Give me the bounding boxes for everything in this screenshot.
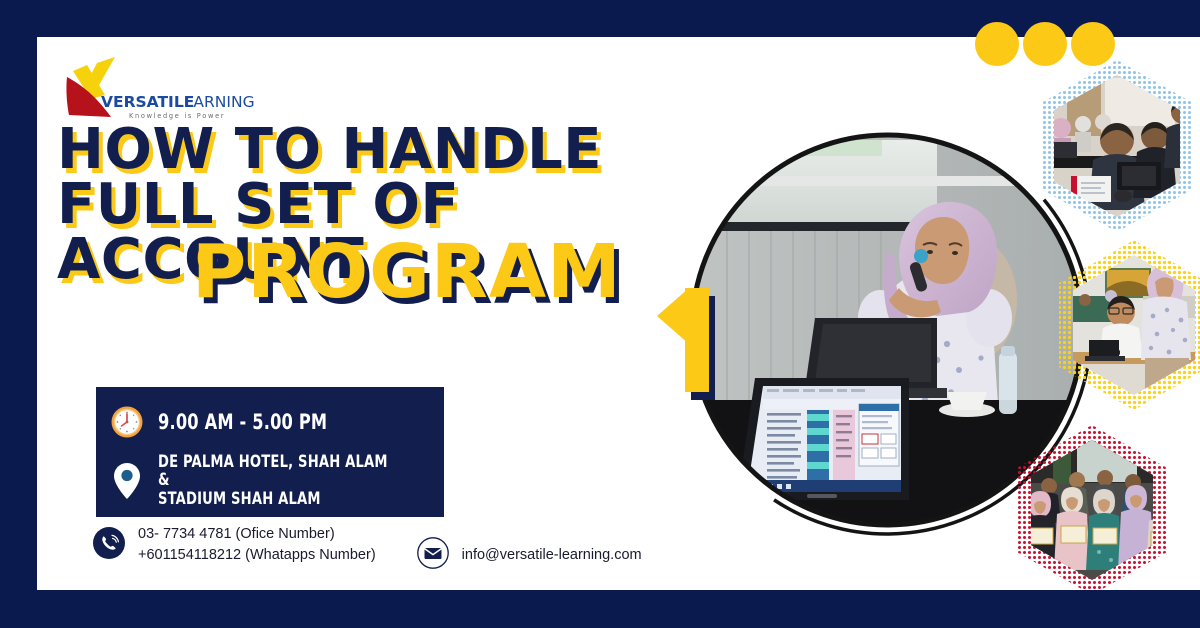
headline-line-2: FULL SET OF — [57, 178, 697, 233]
location-pin-icon — [96, 462, 158, 500]
clock-icon — [96, 405, 158, 439]
decor-dot-3 — [1071, 22, 1115, 66]
event-details-box: 9.00 AM - 5.00 PM DE PALMA HOTEL, SHAH A… — [96, 387, 444, 517]
white-content-panel: VERSATILE LEARNING Knowledge is Power HO… — [37, 37, 1200, 590]
phone-contact[interactable]: 03- 7734 4781 (Ofice Number) +6011541182… — [92, 524, 376, 566]
event-venue-row: DE PALMA HOTEL, SHAH ALAM & STADIUM SHAH… — [96, 453, 444, 508]
event-time-row: 9.00 AM - 5.00 PM — [96, 405, 444, 439]
event-venue-line-2: STADIUM SHAH ALAM — [158, 490, 404, 508]
phone-text-wrap: 03- 7734 4781 (Ofice Number) +6011541182… — [138, 524, 376, 566]
contact-bar: 03- 7734 4781 (Ofice Number) +6011541182… — [92, 524, 642, 575]
event-venue-line-1: DE PALMA HOTEL, SHAH ALAM & — [158, 453, 404, 490]
phone-icon — [92, 526, 126, 565]
phone-whatsapp-number: +601154118212 (Whatapps Number) — [138, 545, 376, 566]
email-address: info@versatile-learning.com — [462, 545, 642, 566]
headline-program-word: PROGRAM — [192, 237, 622, 307]
decor-dot-1 — [975, 22, 1019, 66]
phone-office-number: 03- 7734 4781 (Ofice Number) — [138, 524, 376, 545]
yellow-chevron-accent — [657, 288, 715, 400]
hexagon-photo-top — [1041, 60, 1200, 232]
event-venue-text-wrap: DE PALMA HOTEL, SHAH ALAM & STADIUM SHAH… — [158, 453, 444, 508]
email-contact[interactable]: info@versatile-learning.com — [416, 536, 642, 575]
logo-wordmark-light: LEARNING — [175, 93, 255, 111]
decor-dot-2 — [1023, 22, 1067, 66]
event-time-text: 9.00 AM - 5.00 PM — [158, 411, 327, 434]
photo-collage — [637, 37, 1200, 590]
headline-line-1: HOW TO HANDLE — [57, 123, 697, 178]
promotional-banner: VERSATILE LEARNING Knowledge is Power HO… — [0, 0, 1200, 628]
envelope-icon — [416, 536, 450, 575]
